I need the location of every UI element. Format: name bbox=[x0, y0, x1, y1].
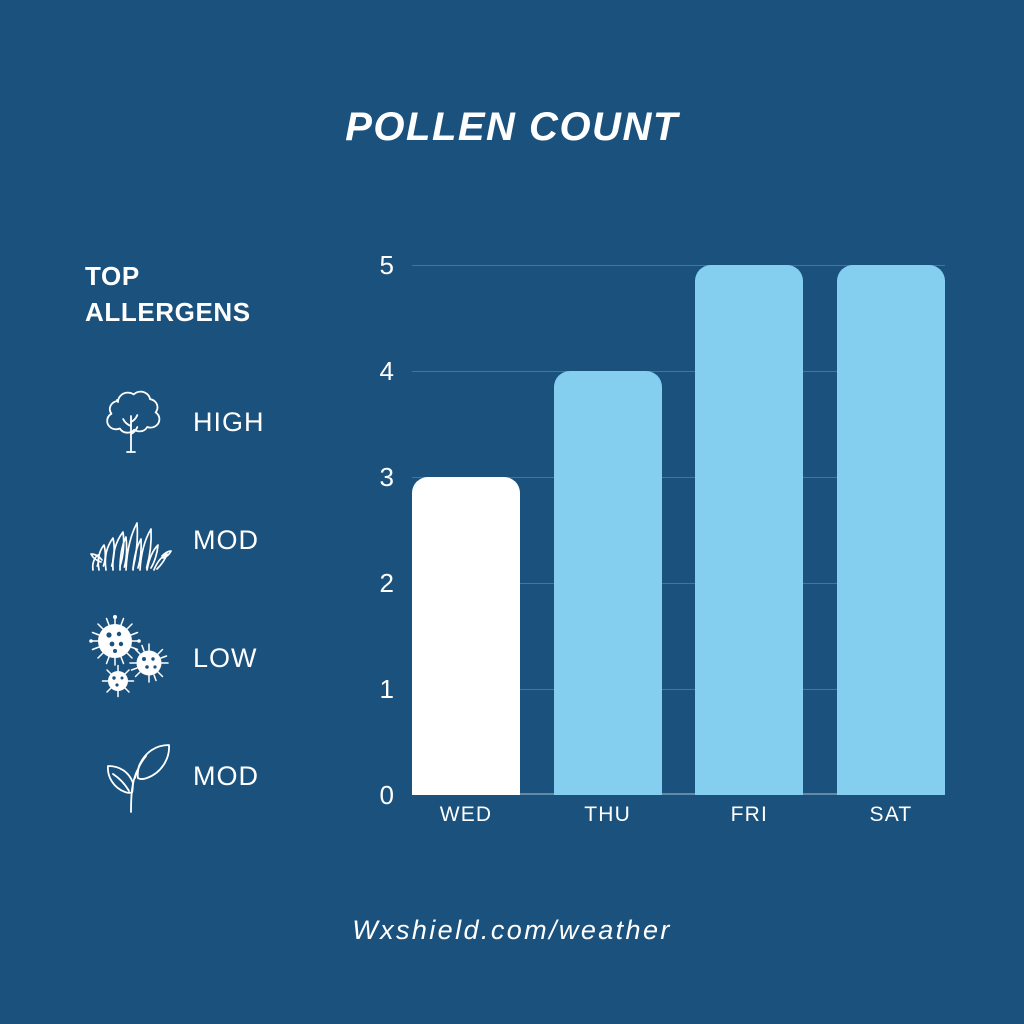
weed-sprout-icon bbox=[85, 733, 177, 819]
chart-bar-slot[interactable]: FRI bbox=[695, 265, 803, 795]
chart-bar[interactable] bbox=[695, 265, 803, 795]
allergen-label-ragweed: LOW bbox=[193, 643, 258, 674]
tree-icon bbox=[85, 379, 177, 465]
chart-bar-slot[interactable]: SAT bbox=[837, 265, 945, 795]
chart-bar[interactable] bbox=[554, 371, 662, 795]
top-allergens-heading: TOP ALLERGENS bbox=[85, 258, 285, 330]
y-axis-tick-label: 4 bbox=[380, 358, 394, 384]
chart-bar-slot[interactable]: WED bbox=[412, 265, 520, 795]
chart-bars: WEDTHUFRISAT bbox=[412, 265, 945, 795]
y-axis-tick-label: 5 bbox=[380, 252, 394, 278]
allergen-row-weed: MOD bbox=[85, 717, 335, 835]
grass-icon bbox=[85, 497, 177, 583]
y-axis-tick-label: 0 bbox=[380, 782, 394, 808]
chart-bar[interactable] bbox=[837, 265, 945, 795]
chart-bar[interactable] bbox=[412, 477, 520, 795]
allergen-label-weed: MOD bbox=[193, 761, 259, 792]
x-axis-tick-label: FRI bbox=[695, 803, 803, 827]
top-allergens-heading-line2: ALLERGENS bbox=[85, 294, 285, 330]
x-axis-tick-label: WED bbox=[412, 803, 520, 827]
y-axis-tick-label: 3 bbox=[380, 464, 394, 490]
allergen-row-ragweed: LOW bbox=[85, 599, 335, 717]
x-axis-tick-label: THU bbox=[554, 803, 662, 827]
allergen-row-grass: MOD bbox=[85, 481, 335, 599]
chart-plot-area: 012345 WEDTHUFRISAT bbox=[412, 265, 945, 795]
pollen-count-chart: 012345 WEDTHUFRISAT bbox=[360, 240, 960, 840]
allergen-label-tree: HIGH bbox=[193, 407, 265, 438]
footer-url: Wxshield.com/weather bbox=[0, 915, 1024, 946]
y-axis-tick-label: 1 bbox=[380, 676, 394, 702]
allergen-row-tree: HIGH bbox=[85, 363, 335, 481]
chart-bar-slot[interactable]: THU bbox=[554, 265, 662, 795]
allergen-label-grass: MOD bbox=[193, 525, 259, 556]
page-title: POLLEN COUNT bbox=[0, 105, 1024, 150]
allergen-list: HIGH bbox=[85, 363, 335, 835]
pollen-count-infographic: POLLEN COUNT TOP ALLERGENS bbox=[0, 0, 1024, 1024]
y-axis-tick-label: 2 bbox=[380, 570, 394, 596]
top-allergens-panel: TOP ALLERGENS HIGH bbox=[85, 258, 335, 330]
ragweed-pollen-icon bbox=[85, 615, 177, 701]
top-allergens-heading-line1: TOP bbox=[85, 258, 285, 294]
x-axis-tick-label: SAT bbox=[837, 803, 945, 827]
